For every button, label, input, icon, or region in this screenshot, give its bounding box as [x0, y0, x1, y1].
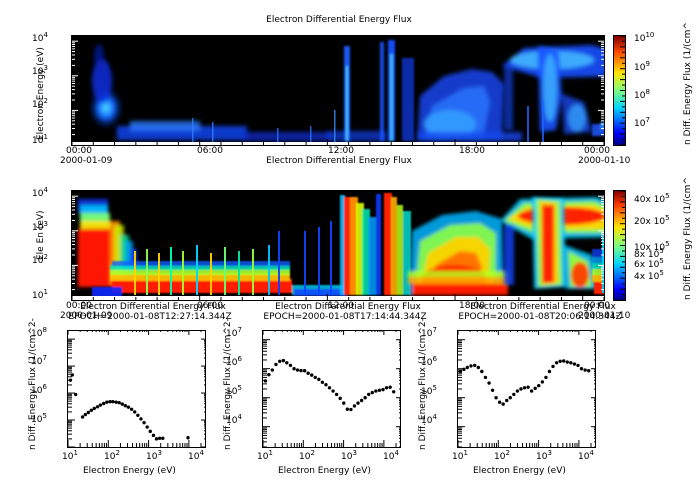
- panel4-xtick-3: 103: [341, 449, 357, 462]
- panel5-subtitle: EPOCH=2000-01-08T20:06:14.344Z: [440, 312, 640, 322]
- panel4-ytick-7: 107: [226, 326, 242, 339]
- panel3-xtick-3: 103: [146, 449, 162, 462]
- panel2-spectrogram: [71, 190, 605, 301]
- panel2-ytick-2: 102: [32, 253, 48, 266]
- panel5-xtick-2: 102: [494, 449, 510, 462]
- panel1-title: Electron Differential Energy Flux: [189, 15, 489, 25]
- panel4-subtitle: EPOCH=2000-01-08T17:14:44.344Z: [245, 312, 445, 322]
- panel2-colorbar-label: n Diff. Energy Flux (1/(cm^: [683, 177, 693, 300]
- panel5-plot: [457, 330, 596, 448]
- panel3-xtick-1: 101: [62, 449, 78, 462]
- panel2-colorbar: [613, 190, 626, 301]
- panel3-scatter: [68, 331, 205, 447]
- panel4-xlabel: Electron Energy (eV): [278, 466, 371, 476]
- panel1-cbtick-10: 1010: [634, 31, 654, 44]
- panel1-ylabel: Electron Energy (eV): [36, 47, 46, 140]
- panel1-xdate-0: 2000-01-09: [60, 156, 112, 166]
- panel5-ytick-6: 106: [421, 355, 437, 368]
- panel1-ytick-4: 104: [32, 31, 48, 44]
- panel1-cbtick-8: 108: [634, 88, 650, 101]
- panel1-xtick-3: 18:00: [459, 146, 485, 156]
- panel4-xtick-4: 104: [383, 449, 399, 462]
- panel3-subtitle: EPOCH=2000-01-08T12:27:14.344Z: [50, 312, 250, 322]
- panel1-xdate-4: 2000-01-10: [578, 156, 630, 166]
- panel2-title: Electron Differential Energy Flux: [189, 156, 489, 166]
- panel5-ytick-7: 107: [421, 326, 437, 339]
- figure-canvas: Electron Differential Energy Flux Electr…: [0, 0, 697, 492]
- panel1-xtick-0: 00:00: [66, 146, 92, 156]
- panel1-ytick-2: 102: [32, 97, 48, 110]
- panel1-xtick-2: 12:00: [328, 146, 354, 156]
- panel1-ytick-1: 101: [32, 133, 48, 146]
- panel3-ytick-8: 108: [31, 326, 47, 339]
- panel2-ytick-4: 104: [32, 186, 48, 199]
- panel5-xtick-1: 101: [452, 449, 468, 462]
- panel4-title: Electron Differential Energy Flux: [253, 302, 443, 312]
- panel3-xtick-2: 102: [104, 449, 120, 462]
- panel1-spectrogram-image: [72, 36, 604, 145]
- panel4-plot: [262, 330, 401, 448]
- panel4-xtick-1: 101: [257, 449, 273, 462]
- panel3-ytick-6: 106: [31, 383, 47, 396]
- panel1-cbtick-7: 107: [634, 116, 650, 129]
- panel1-colorbar: [613, 35, 626, 146]
- panel2-cbtick-20: 20x 105: [634, 214, 670, 227]
- panel1-xtick-4: 00:00: [584, 146, 610, 156]
- panel2-ytick-3: 103: [32, 220, 48, 233]
- panel1-ytick-3: 103: [32, 64, 48, 77]
- panel4-ytick-6: 106: [226, 355, 242, 368]
- panel1-colorbar-label: n Diff. Energy Flux (1/(cm^: [683, 22, 693, 145]
- panel5-title: Electron Differential Energy Flux: [448, 302, 638, 312]
- panel2-cbtick-40: 40x 105: [634, 192, 670, 205]
- panel5-ytick-5: 105: [421, 384, 437, 397]
- panel3-ytick-7: 107: [31, 354, 47, 367]
- panel3-title: Electron Differential Energy Flux: [58, 302, 248, 312]
- panel3-ytick-5: 105: [31, 412, 47, 425]
- panel3-xtick-4: 104: [188, 449, 204, 462]
- panel5-xtick-4: 104: [578, 449, 594, 462]
- panel2-cbtick-4: 4x 105: [634, 269, 664, 282]
- panel4-xtick-2: 102: [299, 449, 315, 462]
- panel2-ytick-1: 101: [32, 288, 48, 301]
- panel5-xlabel: Electron Energy (eV): [473, 466, 566, 476]
- panel5-scatter: [458, 331, 595, 447]
- panel2-spectrogram-image: [72, 191, 604, 300]
- panel3-plot: [67, 330, 206, 448]
- panel4-scatter: [263, 331, 400, 447]
- panel5-ytick-4: 104: [421, 413, 437, 426]
- panel1-spectrogram: [71, 35, 605, 146]
- panel3-xlabel: Electron Energy (eV): [83, 466, 176, 476]
- panel5-xtick-3: 103: [536, 449, 552, 462]
- panel1-cbtick-9: 109: [634, 60, 650, 73]
- panel4-ytick-5: 105: [226, 384, 242, 397]
- panel4-ytick-4: 104: [226, 413, 242, 426]
- panel1-xtick-1: 06:00: [197, 146, 223, 156]
